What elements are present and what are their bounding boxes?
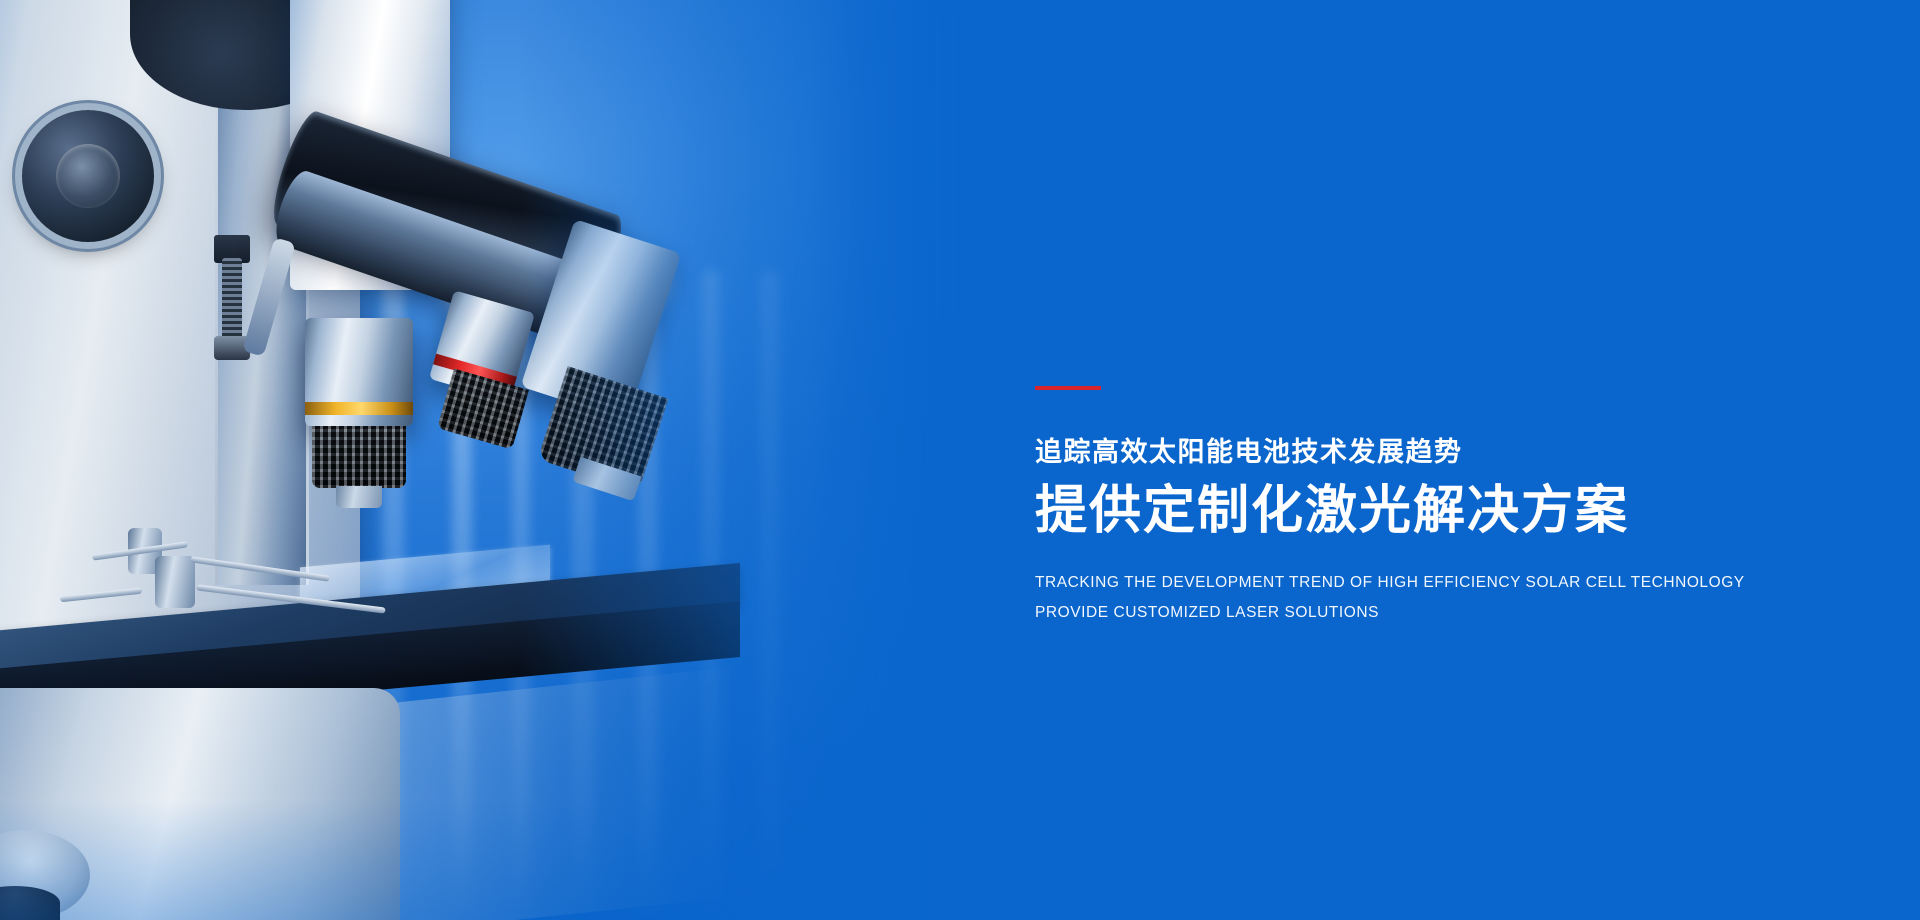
objective-lens-yellow — [305, 318, 413, 426]
hero-subtitle-line-1: TRACKING THE DEVELOPMENT TREND OF HIGH E… — [1035, 568, 1855, 598]
coarse-focus-knob — [22, 110, 154, 242]
stage-clip-post — [155, 556, 195, 608]
objective-front-lens-tip — [336, 486, 382, 508]
photo-to-background-blend — [520, 0, 1040, 920]
hero-headline: 提供定制化激光解决方案 — [1035, 481, 1855, 542]
hero-copy-block: 追踪高效太阳能电池技术发展趋势 提供定制化激光解决方案 TRACKING THE… — [1035, 386, 1855, 628]
knob-screw-icon — [84, 172, 98, 186]
hero-banner: 追踪高效太阳能电池技术发展趋势 提供定制化激光解决方案 TRACKING THE… — [0, 0, 1920, 920]
objective-knurled-grip — [312, 426, 406, 488]
hero-kicker: 追踪高效太阳能电池技术发展趋势 — [1035, 438, 1855, 468]
set-screw-shaft — [222, 258, 242, 344]
hero-subtitle-line-2: PROVIDE CUSTOMIZED LASER SOLUTIONS — [1035, 598, 1855, 628]
accent-rule — [1035, 386, 1101, 390]
hero-subtitle-group: TRACKING THE DEVELOPMENT TREND OF HIGH E… — [1035, 568, 1855, 628]
objective-color-band-yellow — [305, 402, 413, 415]
